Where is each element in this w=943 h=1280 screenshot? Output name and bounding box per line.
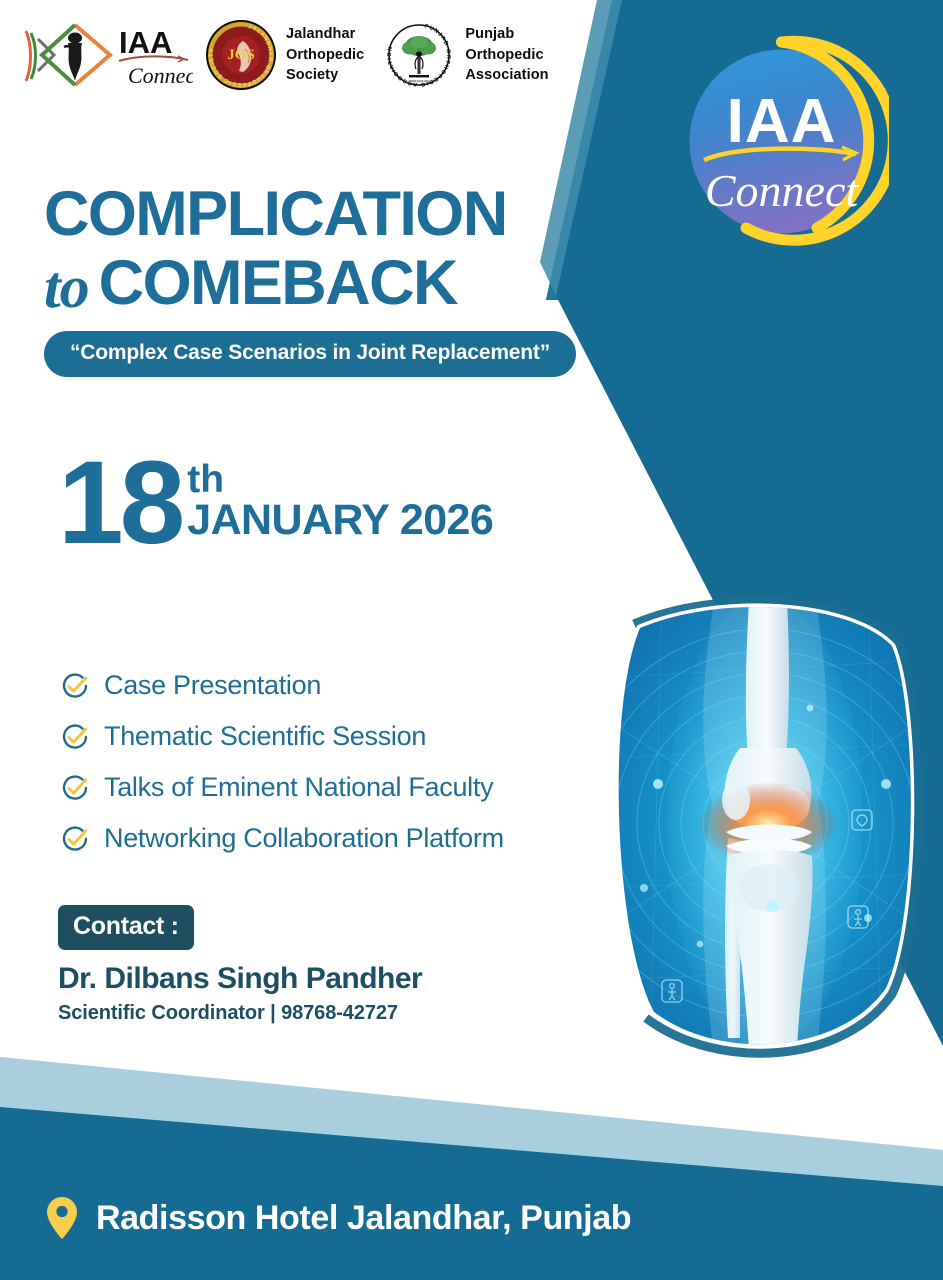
headline-block: COMPLICATION to COMEBACK “Complex Case S… [44, 183, 576, 377]
svg-text:www.poa.org: www.poa.org [409, 79, 430, 83]
check-circle-icon [60, 671, 90, 701]
check-circle-icon [60, 722, 90, 752]
jos-logo-mark: JALANDHAR ORTHOPAEDIC SOCIETY JOS [205, 19, 277, 91]
badge-secondary-text: Connect [705, 165, 860, 216]
check-circle-icon [60, 773, 90, 803]
logo-punjab-orthopedic-association: PUNJAB ORTHOPEDIC ASSOCIATION www.poa.or… [382, 18, 548, 92]
jos-label-line-1: Jalandhar [286, 24, 364, 45]
poa-logo-mark: PUNJAB ORTHOPEDIC ASSOCIATION www.poa.or… [382, 18, 456, 92]
iaa-logo-primary-text: IAA [119, 25, 172, 60]
date-right-group: th JANUARY 2026 [187, 462, 493, 542]
event-date: 18 th JANUARY 2026 [58, 452, 493, 556]
venue-name: Radisson Hotel Jalandhar, Punjab [96, 1199, 631, 1238]
jos-monogram: JOS [227, 47, 255, 63]
list-item: Thematic Scientific Session [60, 711, 504, 762]
event-poster: IAA Connect JALANDHAR ORTHOPAEDIC SOCIET… [0, 0, 943, 1280]
date-ordinal: th [187, 458, 224, 501]
headline-subtitle-pill: “Complex Case Scenarios in Joint Replace… [44, 331, 576, 377]
feature-list: Case Presentation Thematic Scientific Se… [60, 660, 504, 864]
poa-logo-label: Punjab Orthopedic Association [465, 24, 548, 86]
iaa-connect-logo-mark: IAA Connect [18, 19, 193, 91]
jos-logo-label: Jalandhar Orthopedic Society [286, 24, 364, 86]
contact-heading: Contact : [58, 905, 194, 950]
jos-label-line-3: Society [286, 65, 364, 86]
headline-line-2: COMEBACK [99, 252, 457, 315]
iaa-logo-secondary-text: Connect [128, 63, 193, 88]
logo-jalandhar-orthopedic-society: JALANDHAR ORTHOPAEDIC SOCIETY JOS Jaland… [205, 19, 364, 91]
list-item: Case Presentation [60, 660, 504, 711]
feature-label: Networking Collaboration Platform [104, 823, 504, 854]
feature-label: Case Presentation [104, 670, 321, 701]
jos-label-line-2: Orthopedic [286, 45, 364, 66]
poa-label-line-3: Association [465, 65, 548, 86]
partner-logos: IAA Connect JALANDHAR ORTHOPAEDIC SOCIET… [18, 18, 549, 92]
headline-line-2-row: to COMEBACK [44, 252, 576, 315]
date-day: 18 [58, 452, 181, 556]
badge-primary-text: IAA [727, 87, 837, 156]
poa-label-line-1: Punjab [465, 24, 548, 45]
headline-line-1: COMPLICATION [44, 183, 576, 246]
logo-iaa-connect: IAA Connect [18, 19, 193, 91]
iaa-connect-badge: IAA Connect [674, 34, 889, 249]
knee-joint-illustration [600, 588, 930, 1068]
contact-block: Contact : Dr. Dilbans Singh Pandher Scie… [58, 905, 422, 1025]
date-month-year: JANUARY 2026 [187, 499, 493, 542]
list-item: Talks of Eminent National Faculty [60, 762, 504, 813]
poa-label-line-2: Orthopedic [465, 45, 548, 66]
headline-connector: to [44, 260, 89, 315]
list-item: Networking Collaboration Platform [60, 813, 504, 864]
contact-role-phone: Scientific Coordinator | 98768-42727 [58, 1002, 422, 1025]
check-circle-icon [60, 824, 90, 854]
feature-label: Talks of Eminent National Faculty [104, 772, 493, 803]
location-pin-icon [46, 1196, 78, 1240]
contact-person-name: Dr. Dilbans Singh Pandher [58, 962, 422, 996]
venue-block: Radisson Hotel Jalandhar, Punjab [46, 1196, 631, 1240]
feature-label: Thematic Scientific Session [104, 721, 426, 752]
